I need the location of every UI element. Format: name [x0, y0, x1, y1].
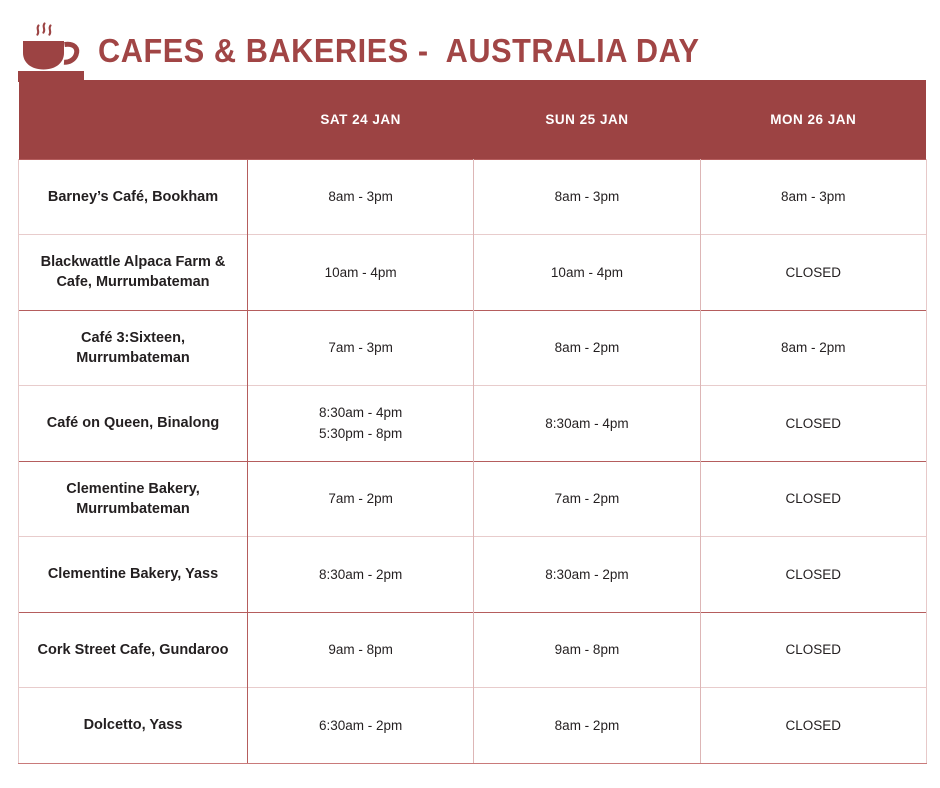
coffee-cup-icon	[18, 22, 90, 82]
table-row: Cork Street Cafe, Gundaroo9am - 8pm9am -…	[19, 612, 927, 688]
hours-line: 8:30am - 2pm	[480, 564, 693, 585]
page-title: CAFES & BAKERIES - AUSTRALIA DAY	[98, 31, 700, 71]
hours-cell-mon: CLOSED	[700, 612, 926, 688]
hours-line: CLOSED	[707, 488, 920, 509]
hours-cell-sat: 8:30am - 2pm	[248, 537, 474, 613]
hours-cell-sat: 7am - 3pm	[248, 310, 474, 386]
venue-name-cell: Dolcetto, Yass	[19, 688, 248, 764]
hours-line: 8:30am - 2pm	[254, 564, 467, 585]
venue-name-cell: Barney’s Café, Bookham	[19, 159, 248, 235]
hours-line: 8:30am - 4pm	[254, 402, 467, 423]
hours-cell-mon: 8am - 3pm	[700, 159, 926, 235]
column-header-mon: MON 26 JAN	[700, 80, 926, 159]
venue-name-cell: Blackwattle Alpaca Farm & Cafe, Murrumba…	[19, 235, 248, 311]
hours-cell-sun: 8:30am - 4pm	[474, 386, 700, 462]
table-row: Café 3:Sixteen, Murrumbateman7am - 3pm8a…	[19, 310, 927, 386]
hours-cell-sat: 9am - 8pm	[248, 612, 474, 688]
hours-cell-mon: CLOSED	[700, 235, 926, 311]
table-row: Barney’s Café, Bookham8am - 3pm8am - 3pm…	[19, 159, 927, 235]
hours-cell-mon: CLOSED	[700, 386, 926, 462]
hours-cell-sun: 8:30am - 2pm	[474, 537, 700, 613]
hours-cell-sun: 10am - 4pm	[474, 235, 700, 311]
opening-hours-table: SAT 24 JAN SUN 25 JAN MON 26 JAN Barney’…	[18, 80, 927, 764]
hours-line: 8am - 3pm	[480, 186, 693, 207]
hours-line: 8am - 2pm	[480, 715, 693, 736]
hours-cell-sat: 8:30am - 4pm5:30pm - 8pm	[248, 386, 474, 462]
hours-line: 8am - 2pm	[480, 337, 693, 358]
table-row: Clementine Bakery, Yass8:30am - 2pm8:30a…	[19, 537, 927, 613]
hours-line: 8am - 3pm	[254, 186, 467, 207]
hours-line: 10am - 4pm	[254, 262, 467, 283]
column-header-sun: SUN 25 JAN	[474, 80, 700, 159]
hours-line: 7am - 2pm	[254, 488, 467, 509]
venue-name-cell: Clementine Bakery, Yass	[19, 537, 248, 613]
hours-cell-sun: 8am - 2pm	[474, 688, 700, 764]
table-row: Dolcetto, Yass6:30am - 2pm8am - 2pmCLOSE…	[19, 688, 927, 764]
hours-line: CLOSED	[707, 715, 920, 736]
table-row: Blackwattle Alpaca Farm & Cafe, Murrumba…	[19, 235, 927, 311]
table-row: Clementine Bakery, Murrumbateman7am - 2p…	[19, 461, 927, 537]
hours-cell-sat: 7am - 2pm	[248, 461, 474, 537]
hours-cell-sun: 8am - 2pm	[474, 310, 700, 386]
hours-line: 8am - 3pm	[707, 186, 920, 207]
hours-cell-sat: 10am - 4pm	[248, 235, 474, 311]
column-header-sat: SAT 24 JAN	[248, 80, 474, 159]
table-header: SAT 24 JAN SUN 25 JAN MON 26 JAN	[19, 80, 927, 159]
hours-line: 7am - 2pm	[480, 488, 693, 509]
hours-line: 8am - 2pm	[707, 337, 920, 358]
table-body: Barney’s Café, Bookham8am - 3pm8am - 3pm…	[19, 159, 927, 763]
hours-cell-mon: CLOSED	[700, 688, 926, 764]
hours-cell-sun: 8am - 3pm	[474, 159, 700, 235]
hours-line: 8:30am - 4pm	[480, 413, 693, 434]
page-root: CAFES & BAKERIES - AUSTRALIA DAY SAT 24 …	[0, 0, 940, 788]
hours-line: CLOSED	[707, 564, 920, 585]
venue-name-cell: Clementine Bakery, Murrumbateman	[19, 461, 248, 537]
venue-name-cell: Café 3:Sixteen, Murrumbateman	[19, 310, 248, 386]
hours-line: 9am - 8pm	[480, 639, 693, 660]
hours-line: 7am - 3pm	[254, 337, 467, 358]
hours-cell-mon: CLOSED	[700, 461, 926, 537]
venue-name-cell: Café on Queen, Binalong	[19, 386, 248, 462]
hours-line: CLOSED	[707, 413, 920, 434]
hours-line: 6:30am - 2pm	[254, 715, 467, 736]
venue-name-cell: Cork Street Cafe, Gundaroo	[19, 612, 248, 688]
hours-line: CLOSED	[707, 262, 920, 283]
column-header-venue	[19, 80, 248, 159]
hours-line: 5:30pm - 8pm	[254, 423, 467, 444]
table-row: Café on Queen, Binalong8:30am - 4pm5:30p…	[19, 386, 927, 462]
hours-line: CLOSED	[707, 639, 920, 660]
hours-cell-sat: 6:30am - 2pm	[248, 688, 474, 764]
hours-cell-sun: 9am - 8pm	[474, 612, 700, 688]
hours-line: 9am - 8pm	[254, 639, 467, 660]
table-header-row: SAT 24 JAN SUN 25 JAN MON 26 JAN	[19, 80, 927, 159]
hours-line: 10am - 4pm	[480, 262, 693, 283]
hours-cell-sun: 7am - 2pm	[474, 461, 700, 537]
hours-cell-sat: 8am - 3pm	[248, 159, 474, 235]
page-header: CAFES & BAKERIES - AUSTRALIA DAY	[0, 0, 940, 82]
hours-cell-mon: 8am - 2pm	[700, 310, 926, 386]
hours-cell-mon: CLOSED	[700, 537, 926, 613]
